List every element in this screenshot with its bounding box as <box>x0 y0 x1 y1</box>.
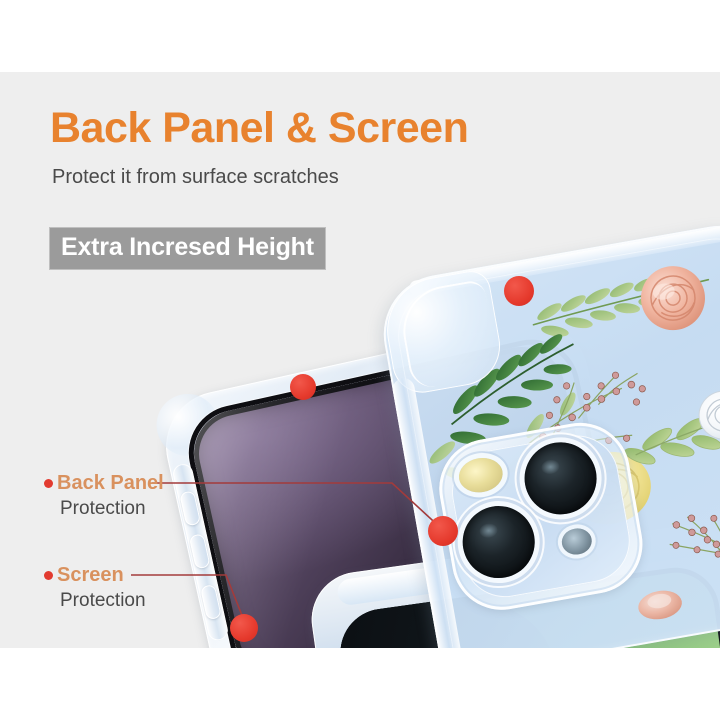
bumper-highlight-ring <box>396 279 500 391</box>
callout-title: Back Panel <box>57 472 164 495</box>
callout-subtitle: Protection <box>60 498 146 520</box>
camera-module <box>431 415 650 618</box>
floral-clear-case <box>374 216 720 648</box>
case-corner-marker <box>290 374 316 400</box>
bottom-left-marker <box>230 614 258 642</box>
product-feature-image: Back Panel & Screen Protect it from surf… <box>0 0 720 720</box>
top-edge-marker <box>504 276 534 306</box>
status-badge: Extra Incresed Height <box>50 228 325 269</box>
camera-edge-marker <box>428 516 458 546</box>
callout-bullet-icon <box>44 571 53 580</box>
callout-subtitle: Protection <box>60 590 146 612</box>
content-band: Back Panel & Screen Protect it from surf… <box>0 72 720 648</box>
page-subtitle: Protect it from surface scratches <box>52 166 339 189</box>
callout-bullet-icon <box>44 479 53 488</box>
callout-title: Screen <box>57 564 124 587</box>
page-title: Back Panel & Screen <box>50 104 468 153</box>
